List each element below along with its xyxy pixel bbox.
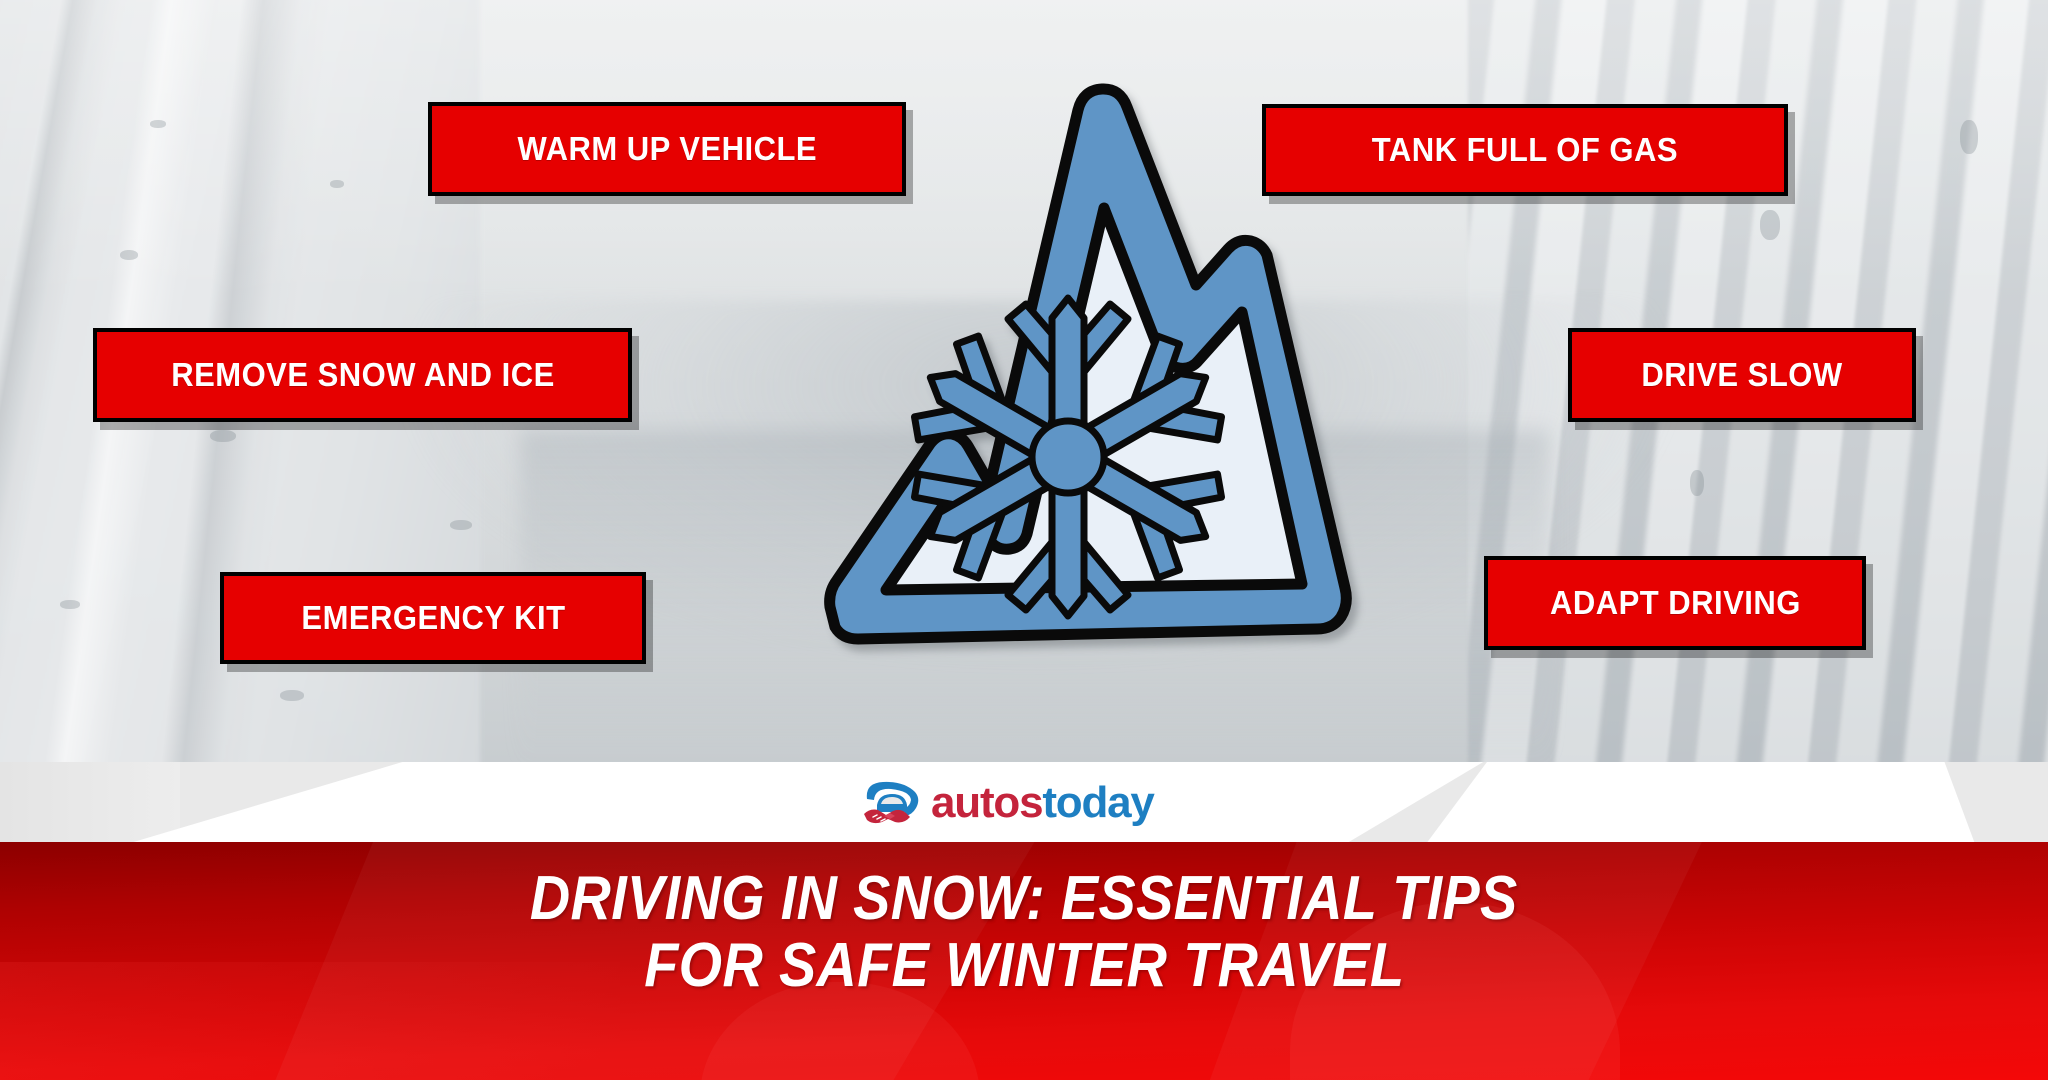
tip-label-remove-snow-and-ice: REMOVE SNOW AND ICE: [171, 356, 554, 394]
title-band: DRIVING IN SNOW: ESSENTIAL TIPS FOR SAFE…: [0, 842, 2048, 1080]
tip-box-tank-full-of-gas[interactable]: TANK FULL OF GAS: [1262, 104, 1788, 196]
brand-word-autos: autos: [931, 778, 1042, 827]
tip-box-emergency-kit[interactable]: EMERGENCY KIT: [220, 572, 646, 664]
tip-box-adapt-driving[interactable]: ADAPT DRIVING: [1484, 556, 1866, 650]
brand-wordmark: autostoday: [931, 781, 1154, 825]
tip-box-drive-slow[interactable]: DRIVE SLOW: [1568, 328, 1916, 422]
car-handshake-icon: [862, 779, 922, 827]
brand-word-today: today: [1042, 778, 1153, 827]
tip-label-drive-slow: DRIVE SLOW: [1641, 356, 1842, 394]
tip-label-emergency-kit: EMERGENCY KIT: [301, 599, 565, 637]
title-line-one: DRIVING IN SNOW: ESSENTIAL TIPS: [530, 866, 1518, 933]
title-line-two: FOR SAFE WINTER TRAVEL: [644, 933, 1404, 1000]
infographic-canvas: WARM UP VEHICLE TANK FULL OF GAS REMOVE …: [0, 0, 2048, 1080]
tip-label-tank-full-of-gas: TANK FULL OF GAS: [1372, 131, 1678, 169]
band-gray-edge: [0, 762, 180, 842]
tip-box-warm-up-vehicle[interactable]: WARM UP VEHICLE: [428, 102, 906, 196]
tip-label-warm-up-vehicle: WARM UP VEHICLE: [517, 130, 816, 168]
tip-box-remove-snow-and-ice[interactable]: REMOVE SNOW AND ICE: [93, 328, 632, 422]
brand-logo[interactable]: autostoday: [862, 772, 1192, 834]
band-white-chevron-right: [1420, 762, 2040, 842]
page-title: DRIVING IN SNOW: ESSENTIAL TIPS FOR SAFE…: [0, 842, 2048, 1080]
band-white-chevron-left: [100, 762, 1500, 842]
tip-label-adapt-driving: ADAPT DRIVING: [1550, 584, 1801, 622]
